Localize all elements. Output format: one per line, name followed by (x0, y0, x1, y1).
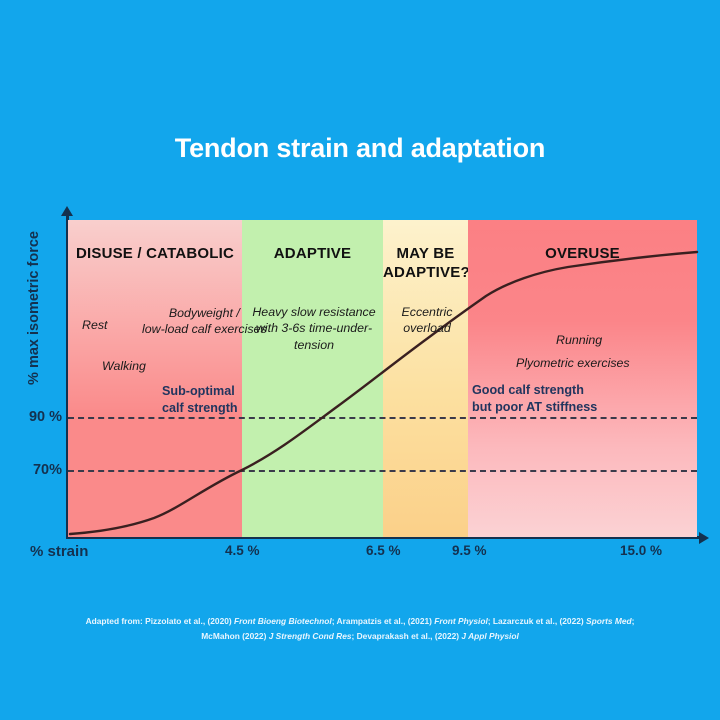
page-title: Tendon strain and adaptation (0, 133, 720, 164)
plot-area: DISUSE / CATABOLIC ADAPTIVE MAY BE ADAPT… (68, 220, 697, 537)
caption-seg-5: McMahon (2022) (201, 631, 268, 641)
y-axis-ticks: 90 % 70% (0, 0, 62, 720)
caption-seg-6: ; Devaprakash et al., (2022) (352, 631, 462, 641)
annotation-running: Running (556, 332, 602, 348)
caption-seg-1: Adapted from: Pizzolato et al., (2020) (86, 616, 234, 626)
slide-canvas: Tendon strain and adaptation % max isome… (0, 0, 720, 720)
annotation-plyometric: Plyometric exercises (516, 355, 630, 371)
x-tick-4-5: 4.5 % (225, 543, 260, 558)
annotation-sub-optimal: Sub-optimal calf strength (162, 383, 238, 416)
annotation-heavy-slow: Heavy slow resistance with 3-6s time-und… (250, 304, 378, 353)
caption-seg-2: ; Arampatzis et al., (2021) (332, 616, 435, 626)
caption-journal-5: J Appl Physiol (461, 631, 518, 641)
annotation-good-calf: Good calf strength but poor AT stiffness (472, 382, 597, 415)
caption-seg-4: ; (632, 616, 635, 626)
caption-journal-2: Front Physiol (434, 616, 488, 626)
source-caption: Adapted from: Pizzolato et al., (2020) F… (55, 614, 665, 643)
annotation-rest: Rest (82, 317, 107, 333)
annotation-walking: Walking (102, 358, 146, 374)
caption-journal-3: Sports Med (586, 616, 632, 626)
x-axis-arrow-icon (699, 532, 709, 544)
force-strain-curve (68, 220, 697, 537)
y-tick-90: 90 % (29, 409, 62, 425)
caption-line-1: Adapted from: Pizzolato et al., (2020) F… (55, 614, 665, 629)
x-tick-6-5: 6.5 % (366, 543, 401, 558)
caption-seg-3: ; Lazarczuk et al., (2022) (488, 616, 586, 626)
annotation-eccentric: Eccentric overload (396, 304, 458, 337)
caption-journal-1: Front Bioeng Biotechnol (234, 616, 332, 626)
caption-line-2: McMahon (2022) J Strength Cond Res; Deva… (55, 629, 665, 644)
y-axis-arrow-icon (61, 206, 73, 216)
caption-journal-4: J Strength Cond Res (269, 631, 352, 641)
x-tick-15-0: 15.0 % (620, 543, 662, 558)
y-tick-70: 70% (33, 462, 62, 478)
x-tick-9-5: 9.5 % (452, 543, 487, 558)
annotation-bodyweight: Bodyweight / low-load calf exercises (142, 305, 267, 338)
